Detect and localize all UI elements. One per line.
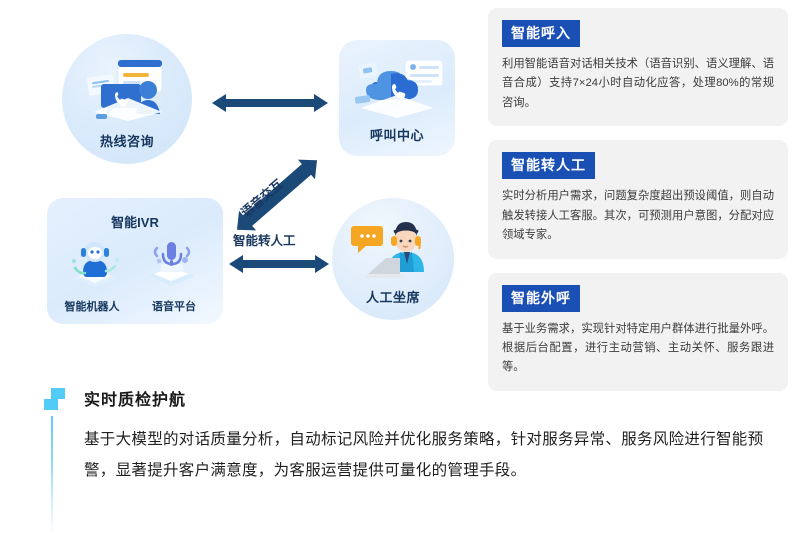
- feature-card-badge: 智能外呼: [502, 285, 580, 312]
- page-root: 热线咨询 呼叫中心 智能IVR: [0, 0, 800, 534]
- accent-step-mark-icon: [44, 388, 65, 410]
- diagram-node-hotline[interactable]: 热线咨询: [62, 34, 192, 164]
- connector-ivr-agent-label: 智能转人工: [233, 230, 296, 249]
- hotline-illustration-icon: [76, 52, 180, 128]
- diagram-node-ivr-label: 智能IVR: [47, 212, 223, 231]
- feature-card[interactable]: 智能呼入 利用智能语音对话相关技术（语音识别、语义理解、语音合成）支持7×24小…: [488, 8, 788, 126]
- diagram-node-robot-label: 智能机器人: [57, 298, 127, 314]
- diagram-node-agent[interactable]: 人工坐席: [332, 198, 454, 320]
- feature-card-list: 智能呼入 利用智能语音对话相关技术（语音识别、语义理解、语音合成）支持7×24小…: [488, 8, 788, 405]
- diagram-node-hotline-label: 热线咨询: [62, 131, 192, 150]
- diagram-node-callcenter-label: 呼叫中心: [339, 125, 455, 144]
- bottom-section-body: 基于大模型的对话质量分析，自动标记风险并优化服务策略，针对服务异常、服务风险进行…: [84, 424, 774, 486]
- diagram-node-callcenter[interactable]: 呼叫中心: [339, 40, 455, 156]
- robot-illustration-icon: [65, 234, 129, 290]
- connector-hotline-callcenter-icon: [212, 92, 328, 114]
- feature-card-badge: 智能呼入: [502, 20, 580, 47]
- feature-card-body: 基于业务需求，实现针对特定用户群体进行批量外呼。根据后台配置，进行主动营销、主动…: [502, 320, 774, 378]
- bottom-body-wrap: 基于大模型的对话质量分析，自动标记风险并优化服务策略，针对服务异常、服务风险进行…: [44, 416, 774, 486]
- diagram-node-voice-label: 语音平台: [139, 298, 209, 314]
- bottom-section-title: 实时质检护航: [84, 386, 186, 410]
- accent-vertical-line: [51, 416, 53, 534]
- agent-illustration-icon: [348, 212, 440, 288]
- architecture-diagram: 热线咨询 呼叫中心 智能IVR: [0, 0, 470, 370]
- microphone-illustration-icon: [141, 234, 205, 290]
- connector-ivr-agent-icon: [229, 253, 329, 275]
- bottom-section: 实时质检护航 基于大模型的对话质量分析，自动标记风险并优化服务策略，针对服务异常…: [44, 386, 774, 486]
- feature-card-body: 利用智能语音对话相关技术（语音识别、语义理解、语音合成）支持7×24小时自动化应…: [502, 55, 774, 113]
- callcenter-illustration-icon: [347, 54, 447, 122]
- diagram-node-agent-label: 人工坐席: [332, 287, 454, 306]
- feature-card-body: 实时分析用户需求，问题复杂度超出预设阈值，则自动触发转接人工客服。其次，可预测用…: [502, 187, 774, 245]
- feature-card[interactable]: 智能外呼 基于业务需求，实现针对特定用户群体进行批量外呼。根据后台配置，进行主动…: [488, 273, 788, 391]
- bottom-heading-row: 实时质检护航: [44, 386, 774, 416]
- diagram-node-ivr[interactable]: 智能IVR: [47, 198, 223, 324]
- feature-card[interactable]: 智能转人工 实时分析用户需求，问题复杂度超出预设阈值，则自动触发转接人工客服。其…: [488, 140, 788, 258]
- feature-card-badge: 智能转人工: [502, 152, 595, 179]
